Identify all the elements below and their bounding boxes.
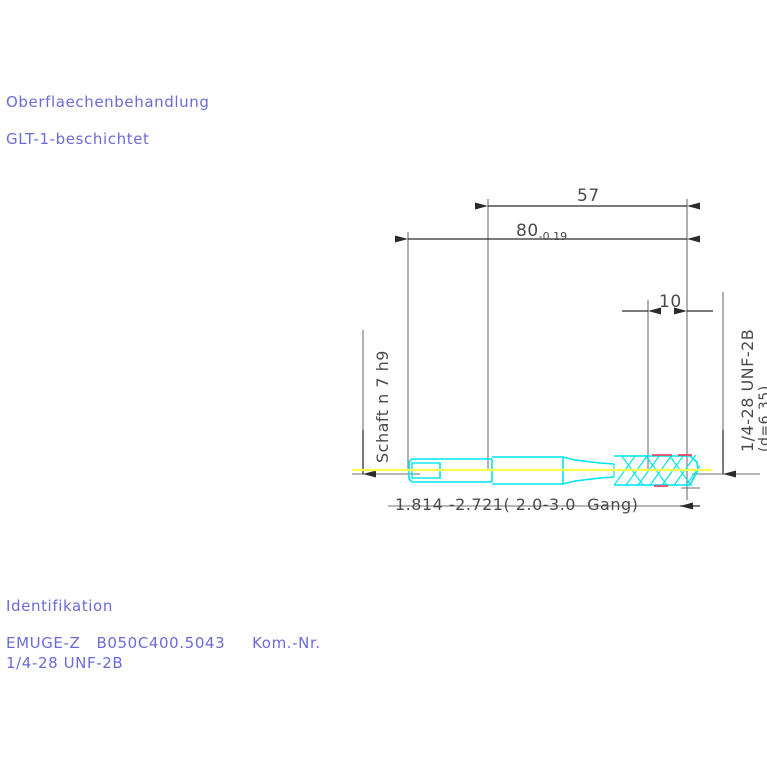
surface-treatment-value: GLT-1-beschichtet — [6, 130, 150, 148]
tap-tool-drawing — [352, 452, 712, 488]
surface-treatment-title: Oberflaechenbehandlung — [6, 93, 209, 111]
identification-line-2: 1/4-28 UNF-2B — [6, 654, 123, 672]
identification-line-1: EMUGE-Z B050C400.5043 Kom.-Nr. — [6, 634, 321, 652]
dimension-label-thread-pitch: 1.814 -2.721( 2.0-3.0 Gang) — [395, 495, 638, 514]
dimension-label-shank-spec: Schaft n 7 h9 — [373, 350, 392, 463]
dimension-label-57: 57 — [577, 186, 600, 206]
identification-title: Identifikation — [6, 597, 113, 615]
drawing-canvas: Oberflaechenbehandlung GLT-1-beschichtet… — [0, 0, 767, 767]
dimension-value-80: 80 — [516, 221, 539, 241]
dimension-label-thread-spec: 1/4-28 UNF-2B — [738, 329, 757, 452]
dimension-label-10: 10 — [659, 292, 682, 312]
extension-lines — [352, 199, 760, 506]
dimension-label-thread-dia: (d=6.35) — [757, 385, 767, 452]
dimension-label-80: 80-0.19 — [516, 221, 567, 243]
dimension-tolerance-80: -0.19 — [539, 230, 567, 243]
dimension-lines — [363, 206, 723, 506]
